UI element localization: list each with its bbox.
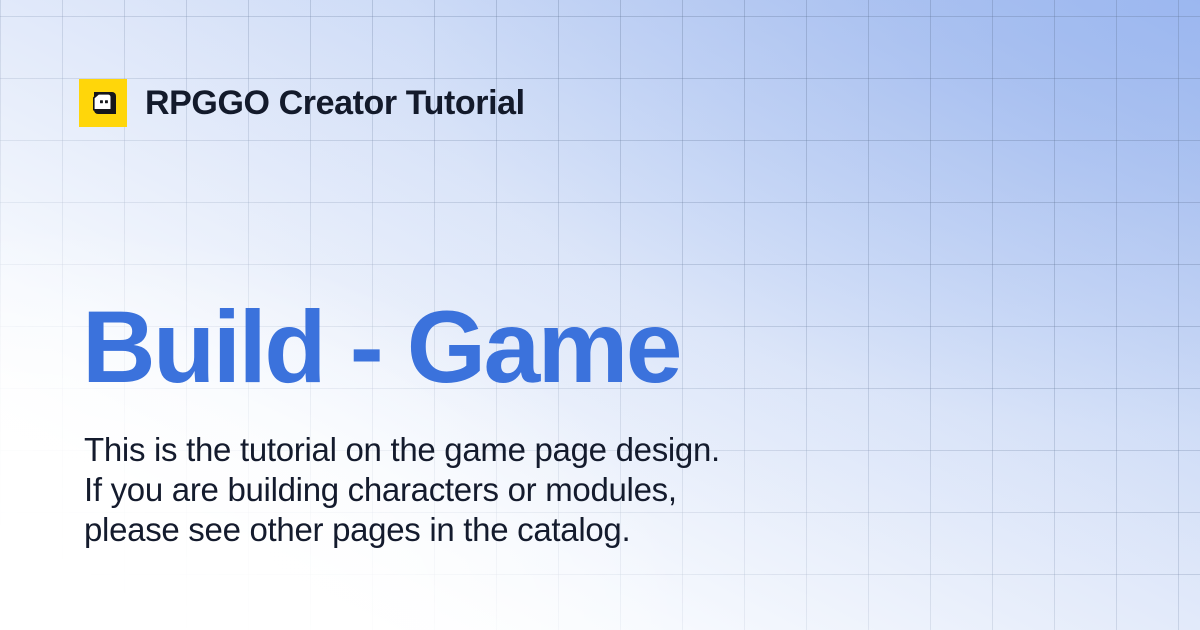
description-line: This is the tutorial on the game page de… [84, 430, 720, 470]
brand-header: RPGGO Creator Tutorial [79, 79, 525, 127]
poster-content: RPGGO Creator Tutorial Build - Game This… [0, 0, 1200, 630]
chat-bubble-icon [79, 79, 127, 127]
brand-title: RPGGO Creator Tutorial [145, 86, 525, 120]
tutorial-cover-poster: RPGGO Creator Tutorial Build - Game This… [0, 0, 1200, 630]
page-description: This is the tutorial on the game page de… [84, 430, 720, 550]
description-line: please see other pages in the catalog. [84, 510, 720, 550]
description-line: If you are building characters or module… [84, 470, 720, 510]
page-title: Build - Game [82, 296, 680, 398]
